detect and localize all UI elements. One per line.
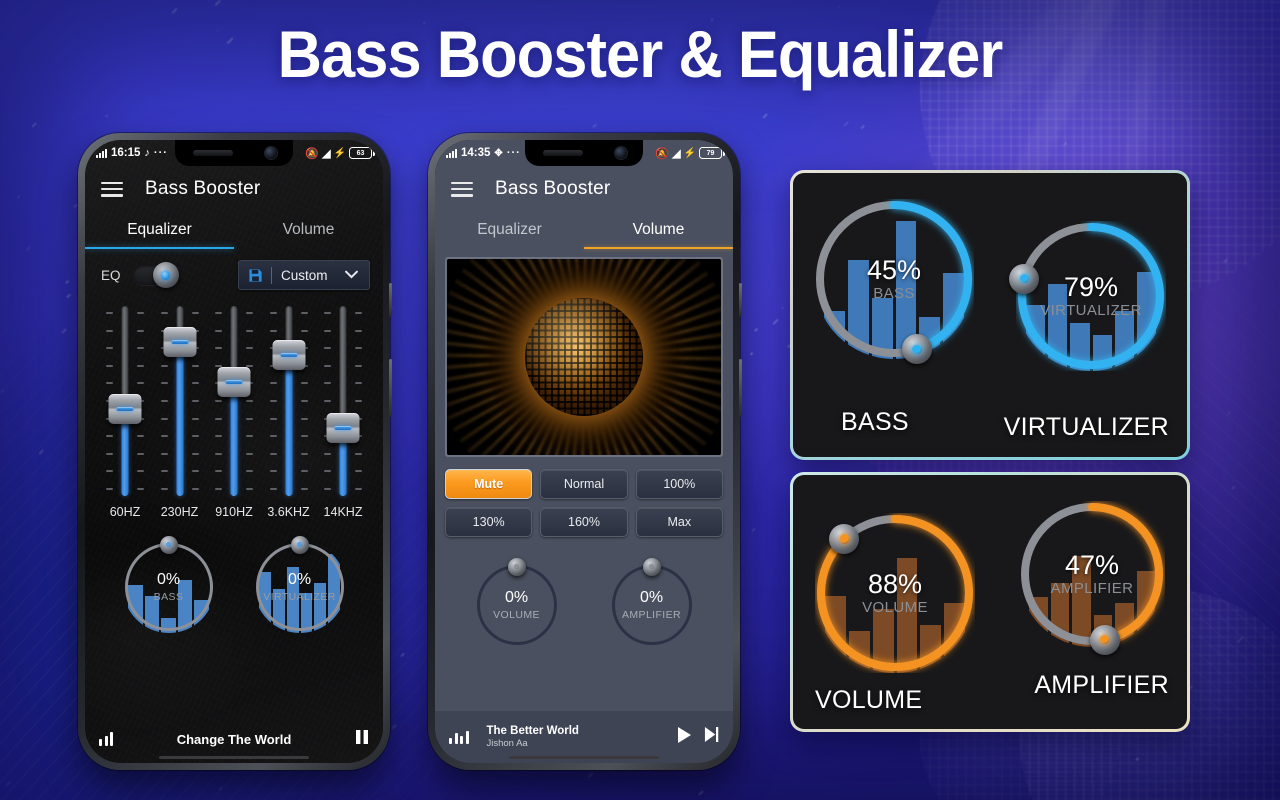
volume-preset-100pct[interactable]: 100% <box>636 469 723 499</box>
slider-fill <box>176 342 183 496</box>
bolt-icon: ⚡ <box>684 148 696 159</box>
eq-slider[interactable] <box>106 306 144 496</box>
app-title: Bass Booster <box>495 178 610 200</box>
signal-icon <box>96 149 107 158</box>
eq-band-230hz: 230HZ <box>161 306 199 519</box>
volume-caption: VOLUME <box>815 686 922 715</box>
volume-preset-160pct[interactable]: 160% <box>540 507 627 537</box>
hamburger-menu-icon[interactable] <box>101 182 123 197</box>
phone1-tabs: Equalizer Volume <box>85 212 383 249</box>
card-body: 45% BASS 79% VIRTUALIZER BASS VIRTUALIZE… <box>793 173 1187 457</box>
eq-slider[interactable] <box>215 306 253 496</box>
card1-gauges: 45% BASS 79% VIRTUALIZER <box>793 199 1187 371</box>
equalizer-bars-icon[interactable] <box>99 732 113 746</box>
now-playing-title: The Better World <box>487 724 665 738</box>
skip-next-icon[interactable] <box>704 726 719 748</box>
battery-icon: 79 <box>699 147 722 159</box>
equalizer-bars-icon[interactable] <box>449 730 469 744</box>
eq-band-label: 910HZ <box>215 505 253 519</box>
wifi-icon: ◢ <box>672 147 680 160</box>
more-dots-icon: ··· <box>154 147 168 159</box>
p2g0[interactable]: 0% VOLUME <box>475 563 559 647</box>
eq-slider[interactable] <box>270 306 308 496</box>
eq-band-60hz: 60HZ <box>106 306 144 519</box>
phone-mockup-equalizer: 16:15 ♪ ··· 🔕 ◢ ⚡ 63 Bass Booster Equali… <box>78 133 390 770</box>
volume-preset-max[interactable]: Max <box>636 507 723 537</box>
gauge-handle[interactable] <box>160 536 178 554</box>
phone-mockup-volume: 14:35 ✥ ··· 🔕 ◢ ⚡ 79 Bass Booster Equali… <box>428 133 740 770</box>
phone1-app-bar: Bass Booster <box>85 166 383 212</box>
play-icon[interactable] <box>676 726 692 749</box>
c1g1[interactable]: 47% AMPLIFIER <box>1019 501 1165 647</box>
tab-equalizer[interactable]: Equalizer <box>85 212 234 249</box>
front-camera <box>615 147 627 159</box>
volume-preset-mute[interactable]: Mute <box>445 469 532 499</box>
slider-thumb <box>218 367 251 397</box>
p1g1[interactable]: 0% VIRTUALIZER <box>254 541 346 633</box>
tab-active-indicator <box>85 247 234 249</box>
bolt-icon: ⚡ <box>334 148 346 159</box>
more-dots-icon: ··· <box>507 147 521 159</box>
phone2-screen: 14:35 ✥ ··· 🔕 ◢ ⚡ 79 Bass Booster Equali… <box>435 140 733 763</box>
home-indicator <box>509 756 659 759</box>
gauge-handle[interactable] <box>902 334 932 364</box>
phone-side-button <box>389 359 392 417</box>
eq-band-label: 60HZ <box>110 505 141 519</box>
p2g1[interactable]: 0% AMPLIFIER <box>610 563 694 647</box>
volume-preset-normal[interactable]: Normal <box>540 469 627 499</box>
gauge-handle[interactable] <box>1090 625 1120 655</box>
front-camera <box>265 147 277 159</box>
eq-toggle-switch[interactable] <box>133 265 177 285</box>
eq-band-3.6khz: 3.6KHZ <box>270 306 308 519</box>
amplifier-caption: AMPLIFIER <box>1034 671 1169 700</box>
tab-active-indicator <box>584 247 733 249</box>
c0g1[interactable]: 79% VIRTUALIZER <box>1016 221 1166 371</box>
preset-dropdown[interactable]: Custom <box>238 260 370 290</box>
card2-gauges: 88% VOLUME 47% AMPLIFIER <box>793 499 1187 673</box>
location-icon: ✥ <box>494 148 502 159</box>
status-time: 14:35 <box>461 147 490 159</box>
volume-preset-130pct[interactable]: 130% <box>445 507 532 537</box>
pause-icon[interactable] <box>355 729 369 750</box>
gauge-handle[interactable] <box>1009 264 1039 294</box>
album-art-frame <box>445 257 723 457</box>
volume-amplifier-card: 88% VOLUME 47% AMPLIFIER VOLUME AMPLIFIE… <box>790 472 1190 732</box>
eq-control-row: EQ Custom <box>85 249 383 290</box>
phone1-screen: 16:15 ♪ ··· 🔕 ◢ ⚡ 63 Bass Booster Equali… <box>85 140 383 763</box>
toggle-knob <box>153 262 179 288</box>
battery-level: 63 <box>357 150 365 157</box>
volume-preset-buttons: MuteNormal100%130%160%Max <box>435 457 733 537</box>
disco-ball <box>525 298 643 416</box>
c0g0[interactable]: 45% BASS <box>814 199 974 359</box>
eq-band-label: 3.6KHZ <box>267 505 309 519</box>
gauge-handle[interactable] <box>508 558 526 576</box>
phone2-gauges: 0% VOLUME 0% AMPLIFIER <box>435 537 733 647</box>
bass-caption: BASS <box>841 408 909 437</box>
phone-side-button <box>739 283 742 317</box>
battery-level: 79 <box>707 150 715 157</box>
phone1-gauges: 0% BASS 0% VIRTUALIZER <box>85 519 383 633</box>
now-playing-info: The Better World Jishon Aa <box>481 724 665 751</box>
slider-thumb <box>163 327 196 357</box>
earpiece-speaker <box>193 150 233 156</box>
hamburger-menu-icon[interactable] <box>451 182 473 197</box>
tab-volume[interactable]: Volume <box>584 212 733 249</box>
card-body: 88% VOLUME 47% AMPLIFIER VOLUME AMPLIFIE… <box>793 475 1187 729</box>
phone-bezel: 16:15 ♪ ··· 🔕 ◢ ⚡ 63 Bass Booster Equali… <box>85 140 383 763</box>
battery-icon: 63 <box>349 147 372 159</box>
gauge-handle[interactable] <box>291 536 309 554</box>
music-note-icon: ♪ <box>144 147 150 159</box>
slider-thumb <box>327 413 360 443</box>
phone-side-button <box>739 359 742 417</box>
save-floppy-icon <box>248 268 263 283</box>
c1g0[interactable]: 88% VOLUME <box>815 513 975 673</box>
wifi-icon: ◢ <box>322 147 330 160</box>
eq-label: EQ <box>101 268 121 283</box>
slider-fill <box>231 382 238 496</box>
earpiece-speaker <box>543 150 583 156</box>
signal-icon <box>446 149 457 158</box>
phone2-app-bar: Bass Booster <box>435 166 733 212</box>
eq-slider[interactable] <box>324 306 362 496</box>
app-title: Bass Booster <box>145 178 260 200</box>
eq-slider[interactable] <box>161 306 199 496</box>
equalizer-sliders: 60HZ 230HZ 910HZ <box>85 290 383 519</box>
eq-band-910hz: 910HZ <box>215 306 253 519</box>
preset-value: Custom <box>272 268 345 283</box>
now-playing-artist: Jishon Aa <box>487 738 665 750</box>
phone-notch <box>525 140 643 166</box>
home-indicator <box>159 756 309 759</box>
bass-virtualizer-card: 45% BASS 79% VIRTUALIZER BASS VIRTUALIZE… <box>790 170 1190 460</box>
page-title: Bass Booster & Equalizer <box>45 16 1235 92</box>
status-time: 16:15 <box>111 147 140 159</box>
p1g0[interactable]: 0% BASS <box>123 541 215 633</box>
gauge-handle[interactable] <box>643 558 661 576</box>
bell-off-icon: 🔕 <box>655 147 669 160</box>
virtualizer-caption: VIRTUALIZER <box>1004 413 1169 442</box>
slider-thumb <box>109 394 142 424</box>
now-playing-title: Change The World <box>113 732 355 747</box>
eq-band-label: 230HZ <box>161 505 199 519</box>
phone-bezel: 14:35 ✥ ··· 🔕 ◢ ⚡ 79 Bass Booster Equali… <box>435 140 733 763</box>
tab-volume[interactable]: Volume <box>234 212 383 249</box>
phone2-tabs: Equalizer Volume <box>435 212 733 249</box>
disco-ball-artwork <box>447 259 721 455</box>
eq-band-14khz: 14KHZ <box>324 306 362 519</box>
disco-ball-sheen <box>525 298 643 416</box>
eq-band-label: 14KHZ <box>324 505 363 519</box>
phone-notch <box>175 140 293 166</box>
slider-fill <box>285 355 292 496</box>
tab-equalizer[interactable]: Equalizer <box>435 212 584 249</box>
chevron-down-icon <box>345 266 358 284</box>
slider-thumb <box>272 340 305 370</box>
phone-side-button <box>389 283 392 317</box>
bell-off-icon: 🔕 <box>305 147 319 160</box>
